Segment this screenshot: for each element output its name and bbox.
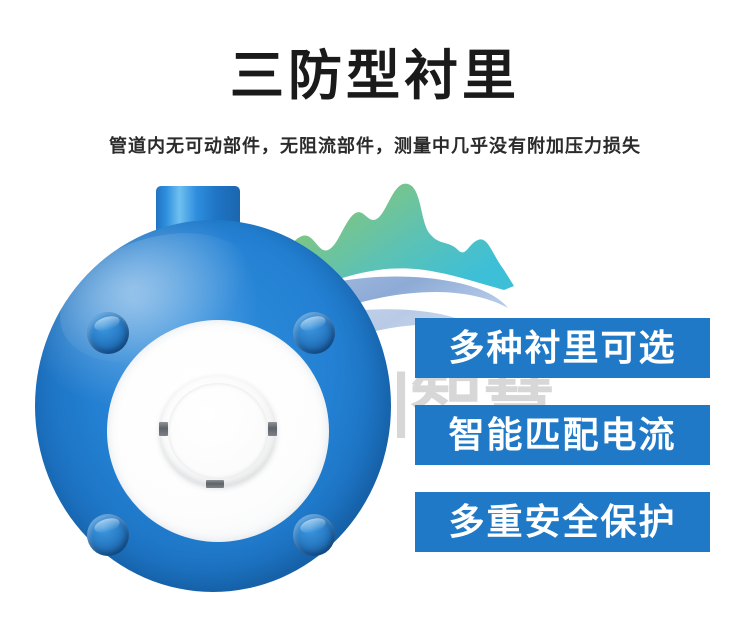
page-subtitle: 管道内无可动部件，无阻流部件，测量中几乎没有附加压力损失 bbox=[0, 133, 750, 159]
bolt-hole-bottom-right bbox=[293, 514, 335, 556]
electrode-bottom bbox=[206, 480, 224, 488]
promo-banner: 三防型衬里 管道内无可动部件，无阻流部件，测量中几乎没有附加压力损失 bbox=[0, 0, 750, 622]
feature-label-1: 多种衬里可选 bbox=[448, 328, 676, 368]
feature-label-3: 多重安全保护 bbox=[448, 502, 676, 542]
feature-box-3: 多重安全保护 bbox=[415, 492, 710, 552]
electrode-left bbox=[159, 422, 168, 436]
sensor-cap bbox=[160, 376, 276, 486]
sensor-cap-inner bbox=[168, 383, 268, 479]
product-image bbox=[30, 186, 370, 598]
bolt-hole-top-right bbox=[293, 312, 335, 354]
feature-label-2: 智能匹配电流 bbox=[448, 415, 676, 455]
bolt-hole-top-left bbox=[87, 312, 129, 354]
electrode-right bbox=[268, 422, 277, 436]
page-title: 三防型衬里 bbox=[0, 46, 750, 106]
flange-body bbox=[35, 220, 391, 592]
feature-box-2: 智能匹配电流 bbox=[415, 405, 710, 465]
feature-box-1: 多种衬里可选 bbox=[415, 318, 710, 378]
bolt-hole-bottom-left bbox=[87, 514, 129, 556]
